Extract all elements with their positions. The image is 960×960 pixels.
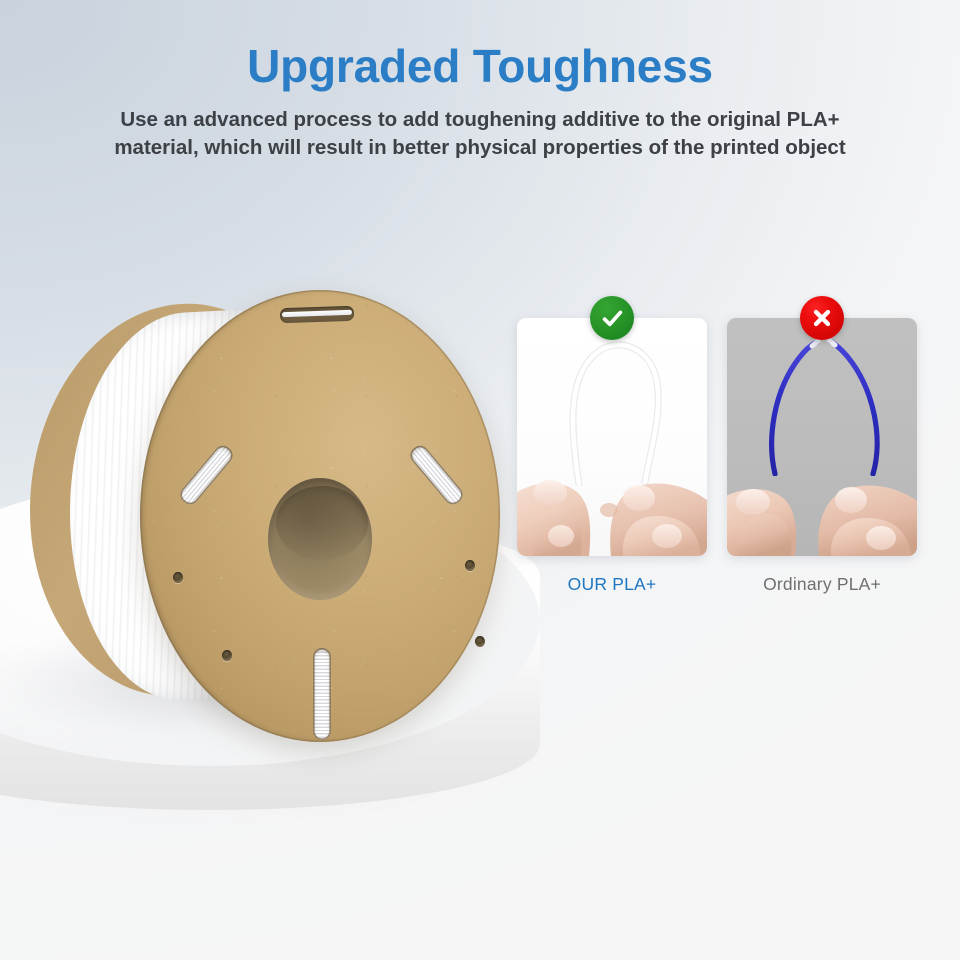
spool-threading-slot [280, 306, 354, 324]
page-subtitle: Use an advanced process to add toughenin… [60, 106, 900, 163]
card-label-ordinary-pla-plus: Ordinary PLA+ [727, 574, 917, 595]
card-label-our-pla-plus: OUR PLA+ [517, 574, 707, 595]
comparison-card-ordinary-pla-plus: Ordinary PLA+ [727, 318, 917, 595]
comparison-section: OUR PLA+ [505, 318, 930, 608]
hands-holding-filament [517, 444, 707, 556]
photo-snapped-filament [727, 318, 917, 556]
spool-slot-bottom [313, 648, 331, 740]
spool-pin-hole [475, 636, 485, 647]
subtitle-line-2: material, which will result in better ph… [60, 134, 900, 162]
spool-pin-hole [465, 560, 475, 571]
hands-holding-filament [727, 444, 917, 556]
threaded-filament-strand [282, 309, 352, 317]
spool-pin-hole [222, 650, 232, 661]
filament-spool [30, 290, 500, 760]
spool-pin-hole [173, 572, 183, 583]
header: Upgraded Toughness Use an advanced proce… [0, 42, 960, 162]
subtitle-line-1: Use an advanced process to add toughenin… [120, 108, 839, 131]
check-icon [590, 296, 634, 340]
cross-icon [800, 296, 844, 340]
page-title: Upgraded Toughness [0, 42, 960, 92]
photo-bent-filament-intact [517, 318, 707, 556]
comparison-card-our-pla-plus: OUR PLA+ [517, 318, 707, 595]
product-feature-banner: Upgraded Toughness Use an advanced proce… [0, 0, 960, 960]
spool-center-hole-inner [276, 486, 368, 560]
